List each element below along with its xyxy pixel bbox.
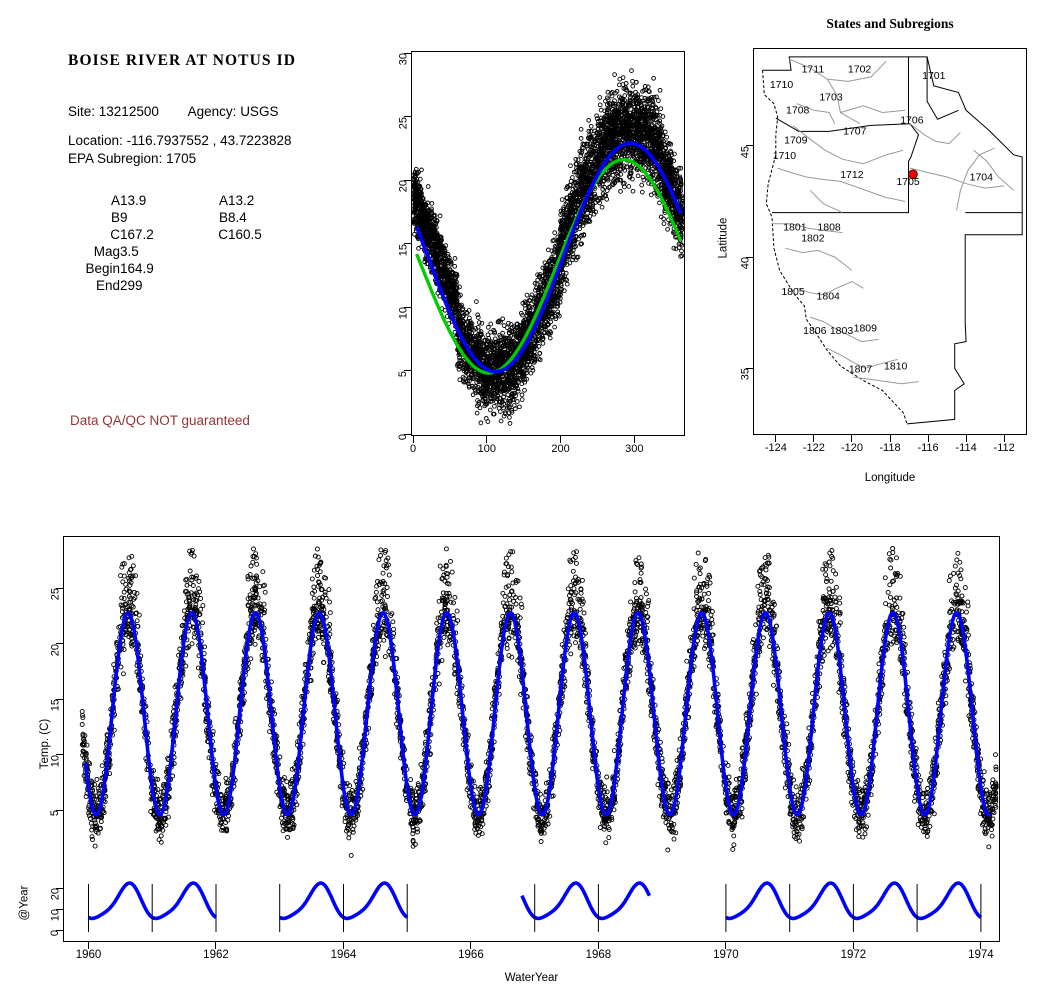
axis-tick-label: 10 bbox=[49, 755, 61, 767]
param-label: B bbox=[68, 209, 120, 226]
model-parameters: A 13.9 A 13.2 B 9 B 8.4 C 167.2 C 160.5 … bbox=[68, 192, 398, 294]
axis-tick-label: 45 bbox=[739, 146, 751, 158]
axis-tick-label: 1974 bbox=[951, 949, 1011, 961]
table-row: B 9 B 8.4 bbox=[68, 209, 298, 226]
axis-tick-label: 200 bbox=[536, 443, 586, 455]
param-value: 3.5 bbox=[120, 243, 192, 260]
axis-tick-label: 0 bbox=[388, 443, 438, 455]
axis-tick-label: 15 bbox=[49, 699, 61, 711]
param-label: A bbox=[68, 192, 120, 209]
table-row: A 13.9 A 13.2 bbox=[68, 192, 298, 209]
axis-tick-label: 5 bbox=[49, 810, 61, 816]
site-value: 13212500 bbox=[99, 104, 159, 119]
param-value: 13.9 bbox=[120, 192, 192, 209]
subregion-value: 1705 bbox=[166, 151, 196, 166]
param-value: 9 bbox=[120, 209, 192, 226]
site-label: Site: bbox=[68, 104, 95, 119]
axis-tick-label: 25 bbox=[397, 117, 409, 129]
axis-tick-label: 25 bbox=[49, 588, 61, 600]
axis-tick-label: 0 bbox=[49, 930, 61, 936]
subregion-label: 1710 bbox=[773, 150, 797, 162]
param-label: B bbox=[192, 209, 228, 226]
day-of-year-scatter-plot bbox=[411, 51, 685, 436]
page-title: BOISE RIVER AT NOTUS ID bbox=[68, 52, 398, 70]
wateryear-axis-label: WaterYear bbox=[63, 972, 1000, 984]
subregion-row: EPA Subregion: 1705 bbox=[68, 151, 398, 166]
param-value: 8.4 bbox=[228, 209, 298, 226]
subregion-label: 1709 bbox=[784, 135, 808, 147]
table-row: Mag 3.5 bbox=[68, 243, 298, 260]
site-location-marker bbox=[909, 170, 918, 179]
subregion-label: 1809 bbox=[854, 323, 878, 335]
param-value: 164.9 bbox=[120, 260, 192, 277]
location-row: Location: -116.7937552 , 43.7223828 bbox=[68, 133, 398, 148]
param-value: 160.5 bbox=[228, 226, 298, 243]
subregion-label: 1803 bbox=[830, 325, 854, 337]
axis-tick-label: 1960 bbox=[58, 949, 118, 961]
at-year-axis-label: @Year bbox=[18, 886, 30, 921]
axis-tick-label: 40 bbox=[739, 257, 751, 269]
agency-label: Agency: bbox=[188, 104, 237, 119]
subregion-label: 1707 bbox=[843, 126, 867, 138]
axis-tick-label: 20 bbox=[49, 888, 61, 900]
subregion-labels: 1711171017021701170317081706170717091710… bbox=[770, 64, 993, 376]
param-value: 13.2 bbox=[228, 192, 298, 209]
axis-tick-label: 1972 bbox=[823, 949, 883, 961]
axis-tick-label: 10 bbox=[397, 307, 409, 319]
qaqc-warning: Data QA/QC NOT guaranteed bbox=[70, 413, 250, 428]
subregion-label: 1711 bbox=[802, 64, 825, 76]
axis-tick-label: 1966 bbox=[441, 949, 501, 961]
subregion-label: 1805 bbox=[781, 286, 805, 298]
axis-tick-label: 15 bbox=[397, 244, 409, 256]
subregion-label: 1708 bbox=[786, 105, 810, 117]
axis-tick-label: -112 bbox=[978, 442, 1030, 454]
agency-value: USGS bbox=[240, 104, 278, 119]
location-value: -116.7937552 , 43.7223828 bbox=[127, 133, 292, 148]
axis-tick-label: 20 bbox=[49, 644, 61, 656]
subregion-label: 1802 bbox=[801, 233, 825, 245]
subregion-label: 1806 bbox=[803, 325, 827, 337]
param-value: 299 bbox=[120, 277, 192, 294]
axis-tick-label: 100 bbox=[462, 443, 512, 455]
param-label: A bbox=[192, 192, 228, 209]
param-label: Begin bbox=[68, 260, 120, 277]
station-info-panel: BOISE RIVER AT NOTUS ID Site: 13212500 A… bbox=[68, 52, 398, 294]
scatter-points bbox=[411, 69, 684, 426]
axis-tick-label: 30 bbox=[397, 53, 409, 65]
subregion-label: 1703 bbox=[819, 91, 843, 103]
table-row: Begin 164.9 bbox=[68, 260, 298, 277]
axis-tick-label: 1964 bbox=[313, 949, 373, 961]
param-value: 167.2 bbox=[120, 226, 192, 243]
axis-tick-label: 20 bbox=[397, 180, 409, 192]
at-year-subpanel bbox=[89, 883, 981, 932]
site-agency-row: Site: 13212500 Agency: USGS bbox=[68, 104, 398, 119]
subregion-label: 1712 bbox=[840, 169, 864, 181]
axis-tick-label: 35 bbox=[739, 368, 751, 380]
axis-tick-label: 1970 bbox=[696, 949, 756, 961]
location-label: Location: bbox=[68, 133, 123, 148]
axis-tick-label: 300 bbox=[609, 443, 659, 455]
axis-tick-label: 10 bbox=[49, 909, 61, 921]
subregion-label: 1704 bbox=[970, 171, 994, 183]
axis-tick-label: 0 bbox=[397, 434, 409, 440]
table-row: End 299 bbox=[68, 277, 298, 294]
subregion-label: 1706 bbox=[900, 115, 924, 127]
subregion-label: EPA Subregion: bbox=[68, 151, 162, 166]
subregion-label: 1810 bbox=[884, 360, 908, 372]
subregion-label: 1710 bbox=[770, 79, 794, 91]
water-year-timeseries-plot bbox=[63, 536, 1000, 942]
subregion-label: 1807 bbox=[849, 364, 873, 376]
param-label: End bbox=[68, 277, 120, 294]
subregion-label: 1804 bbox=[817, 290, 841, 302]
parameters-table: A 13.9 A 13.2 B 9 B 8.4 C 167.2 C 160.5 … bbox=[68, 192, 298, 294]
axis-tick-label: 1968 bbox=[568, 949, 628, 961]
states-subregions-map: 1711171017021701170317081706170717091710… bbox=[753, 48, 1027, 435]
axis-tick-label: 5 bbox=[397, 371, 409, 377]
param-label: C bbox=[68, 226, 120, 243]
axis-tick-label: 1962 bbox=[186, 949, 246, 961]
subregion-label: 1701 bbox=[922, 70, 946, 82]
subregion-label: 1702 bbox=[848, 64, 872, 76]
longitude-axis-label: Longitude bbox=[753, 472, 1027, 484]
at-year-curve bbox=[522, 883, 650, 918]
map-title: States and Subregions bbox=[753, 16, 1027, 32]
param-label: Mag bbox=[68, 243, 120, 260]
table-row: C 167.2 C 160.5 bbox=[68, 226, 298, 243]
param-label: C bbox=[192, 226, 228, 243]
